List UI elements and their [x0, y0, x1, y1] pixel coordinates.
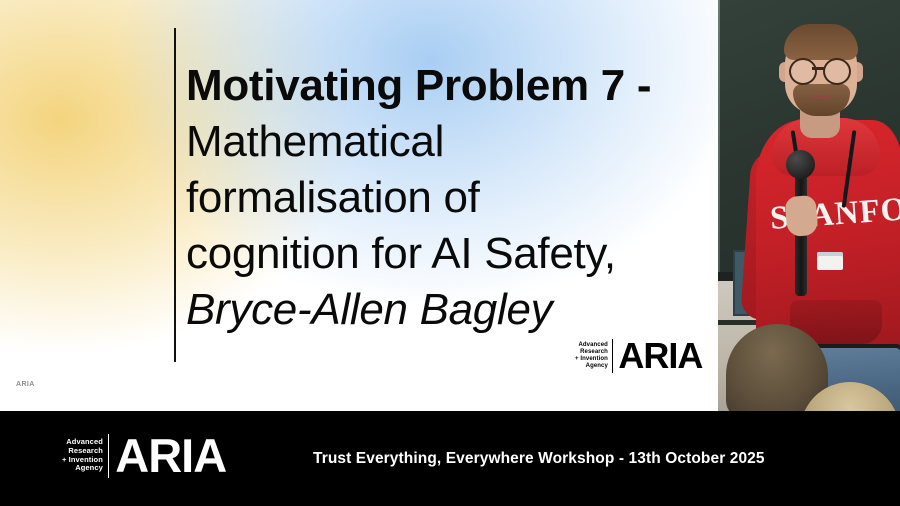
aria-word-4: Agency [575, 363, 608, 370]
aria-word-2: Research [575, 349, 608, 356]
aria-logo-words: Advanced Research + Invention Agency [62, 438, 103, 473]
slide-title: Motivating Problem 7 - Mathematical form… [186, 58, 706, 338]
workshop-caption: Trust Everything, Everywhere Workshop - … [313, 450, 765, 468]
title-line-2: Mathematical [186, 114, 706, 170]
aria-logo-divider [612, 339, 613, 373]
aria-word-4: Agency [62, 464, 103, 473]
presenter-mouth [812, 95, 829, 99]
name-badge [817, 252, 843, 270]
title-line-author: Bryce-Allen Bagley [186, 282, 706, 338]
glasses-bridge [812, 67, 824, 70]
glasses-lens-left [789, 58, 817, 85]
presenter-hair [784, 24, 858, 60]
aria-wordmark: ARIA [618, 338, 702, 374]
title-line-4: cognition for AI Safety, [186, 226, 706, 282]
slide-corner-mark: ARIA [16, 381, 35, 388]
presentation-slide: Motivating Problem 7 - Mathematical form… [0, 0, 718, 411]
screen-capture: STANFORD Motivating Problem 7 - Mathemat… [0, 0, 900, 506]
title-line-3: formalisation of [186, 170, 706, 226]
title-line-1: Motivating Problem 7 - [186, 58, 706, 114]
glasses-lens-right [823, 58, 851, 85]
aria-wordmark: ARIA [115, 432, 226, 479]
title-vertical-rule [174, 28, 176, 362]
aria-logo-words: Advanced Research + Invention Agency [575, 342, 608, 370]
presenter-hand [784, 195, 818, 238]
aria-logo-divider [108, 434, 109, 478]
aria-logo-slide: Advanced Research + Invention Agency ARI… [575, 338, 702, 374]
microphone-head [786, 150, 815, 179]
aria-word-1: Advanced [575, 342, 608, 349]
aria-word-3: + Invention [575, 356, 608, 363]
aria-logo-footer: Advanced Research + Invention Agency ARI… [62, 432, 226, 479]
